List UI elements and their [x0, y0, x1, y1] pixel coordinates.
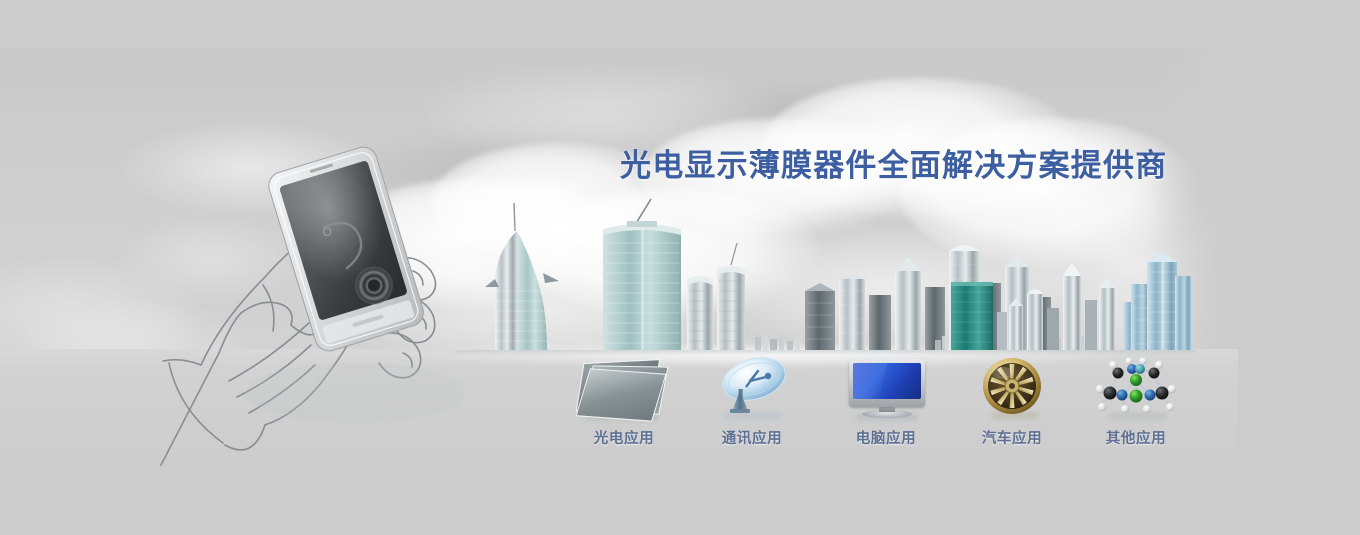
- application-item-communication[interactable]: 通讯应用: [688, 355, 816, 455]
- monitor-screen: [853, 363, 921, 399]
- page-title: 光电显示薄膜器件全面解决方案提供商: [620, 140, 1167, 185]
- car-wheel-rim-icon: [948, 355, 1076, 421]
- application-label: 其他应用: [1072, 427, 1200, 448]
- hero-banner: 光电显示薄膜器件全面解决方案提供商 光电应用: [0, 0, 1360, 535]
- application-item-automotive[interactable]: 汽车应用: [948, 355, 1076, 455]
- tower-cluster-center: [603, 199, 745, 350]
- reflection: [724, 413, 782, 422]
- city-skyline-right: [935, 250, 1195, 355]
- application-label: 汽车应用: [948, 427, 1076, 448]
- reflection: [1110, 414, 1166, 421]
- hand-holding-phone-sketch: [145, 125, 475, 485]
- computer-monitor-icon: [822, 355, 950, 421]
- molecule-model-icon: [1072, 355, 1200, 421]
- satellite-dish-icon: [688, 355, 816, 421]
- monitor-bezel: [849, 359, 925, 407]
- application-label: 光电应用: [560, 427, 688, 448]
- application-label: 通讯应用: [688, 427, 816, 448]
- reflection: [992, 413, 1038, 421]
- application-label: 电脑应用: [822, 427, 950, 448]
- application-item-computer[interactable]: 电脑应用: [822, 355, 950, 455]
- application-icon-row: 光电应用: [560, 355, 1200, 455]
- landmark-sail-tower: [485, 203, 559, 350]
- glass-panels-icon: [560, 355, 688, 421]
- smartphone: [265, 144, 426, 355]
- application-item-optoelectronic[interactable]: 光电应用: [560, 355, 688, 455]
- glass-sheet: [576, 368, 667, 421]
- application-item-other[interactable]: 其他应用: [1072, 355, 1200, 455]
